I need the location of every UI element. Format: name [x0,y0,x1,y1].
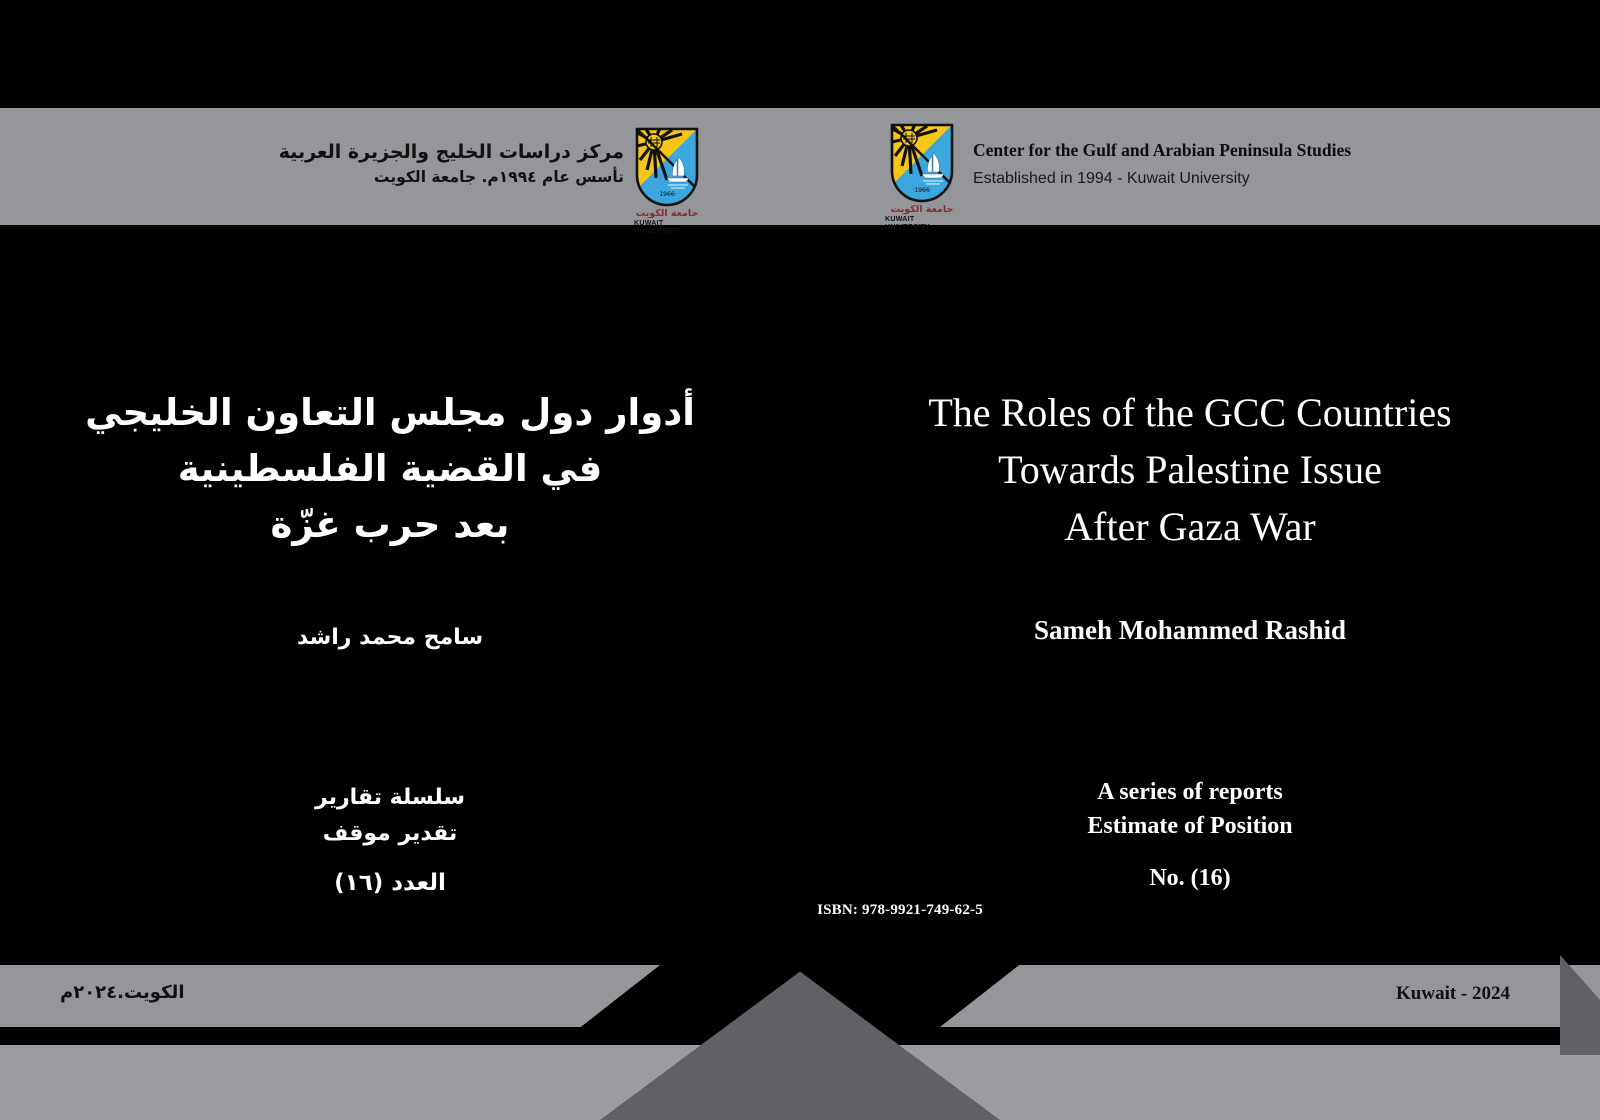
svg-text:·1966·: ·1966· [912,187,931,194]
header-english-group: ·1966· جامعة الكويت KUWAIT UNIVERSITY Ce… [885,122,1351,232]
logo-caption-arabic: جامعة الكويت [891,205,954,215]
english-series-line: A series of reports [840,775,1540,809]
cover-body: أدوار دول مجلس التعاون الخليجي في القضية… [0,225,1600,965]
arabic-series-line: سلسلة تقارير [60,780,720,816]
university-shield-icon: ·1966· [634,126,700,208]
kuwait-university-logo-arabic: ·1966· جامعة الكويت KUWAIT UNIVERSITY [634,126,700,236]
english-title-line: After Gaza War [840,499,1540,556]
arabic-title-line: بعد حرب غزّة [60,497,720,553]
arabic-author: سامح محمد راشد [60,625,720,650]
arabic-series-line: تقدير موقف [60,816,720,852]
logo-caption-arabic: جامعة الكويت [636,209,699,219]
english-title: The Roles of the GCC Countries Towards P… [840,385,1540,555]
english-title-line: The Roles of the GCC Countries [840,385,1540,442]
header-arabic-established: تأسس عام ١٩٩٤م. جامعة الكويت [279,166,624,189]
english-series: A series of reports Estimate of Position [840,775,1540,843]
arabic-series: سلسلة تقارير تقدير موقف [60,780,720,851]
kuwait-university-logo-english: ·1966· جامعة الكويت KUWAIT UNIVERSITY [885,122,959,232]
english-title-line: Towards Palestine Issue [840,442,1540,499]
header-band: مركز دراسات الخليج والجزيرة العربية تأسس… [0,108,1600,225]
arabic-issue-number: العدد (١٦) [60,870,720,896]
header-arabic-center-name: مركز دراسات الخليج والجزيرة العربية [279,140,624,166]
university-shield-icon: ·1966· [889,122,955,204]
header-arabic-text: مركز دراسات الخليج والجزيرة العربية تأسس… [279,126,624,189]
footer-arabic-place-year: الكويت.٢٠٢٤م [60,982,360,1003]
isbn-text: ISBN: 978-9921-749-62-5 [700,902,1100,919]
footer-graphics: الكويت.٢٠٢٤م Kuwait - 2024 [0,955,1600,1120]
english-column: The Roles of the GCC Countries Towards P… [840,225,1540,965]
english-series-line: Estimate of Position [840,809,1540,843]
header-arabic-group: مركز دراسات الخليج والجزيرة العربية تأسس… [280,126,700,216]
header-english-established: Established in 1994 - Kuwait University [973,167,1351,191]
arabic-title: أدوار دول مجلس التعاون الخليجي في القضية… [60,385,720,554]
header-english-text: Center for the Gulf and Arabian Peninsul… [973,122,1351,191]
footer-english-place-year: Kuwait - 2024 [1396,983,1510,1005]
svg-text:·1966·: ·1966· [657,191,676,198]
english-author: Sameh Mohammed Rashid [840,615,1540,646]
arabic-title-line: في القضية الفلسطينية [60,441,720,497]
arabic-title-line: أدوار دول مجلس التعاون الخليجي [60,385,720,441]
arabic-column: أدوار دول مجلس التعاون الخليجي في القضية… [60,225,720,965]
footer-pyramid-shape [600,955,1000,1120]
english-issue-number: No. (16) [840,865,1540,892]
header-english-center-name: Center for the Gulf and Arabian Peninsul… [973,138,1351,163]
cover-page: مركز دراسات الخليج والجزيرة العربية تأسس… [0,0,1600,1120]
